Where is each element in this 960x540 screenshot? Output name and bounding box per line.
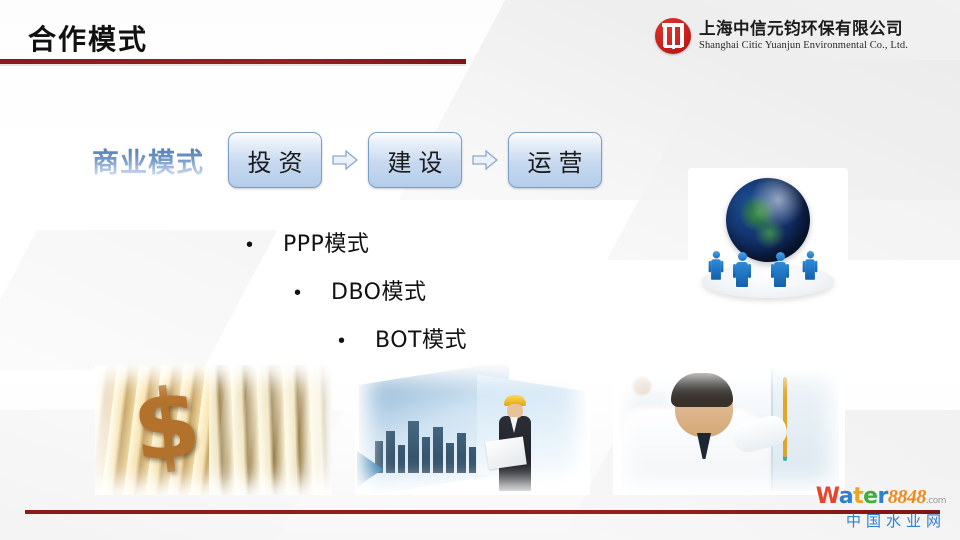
- watermark-tld: .com: [926, 496, 946, 506]
- bullet-list: • PPP模式 • DBO模式 • BOT模式: [246, 226, 467, 370]
- arrow-right-icon: [332, 149, 358, 171]
- page-title: 合作模式: [28, 18, 148, 58]
- title-underline-shadow: [0, 64, 466, 66]
- bullet-text: DBO模式: [331, 274, 426, 306]
- citic-logo-icon: [655, 18, 691, 54]
- flow-step-construction[interactable]: 建设: [368, 132, 462, 188]
- technician-operating-equipment-image: [613, 365, 845, 495]
- flow-label: 商业模式: [92, 141, 218, 180]
- decorative-shape-middle-left: [0, 230, 277, 370]
- slide-canvas: 合作模式 上海中信元钧环保有限公司 Shanghai Citic Yuanjun…: [0, 0, 960, 540]
- arrow-right-icon: [472, 149, 498, 171]
- earth-globe-icon: [726, 178, 810, 262]
- watermark-letter-a: a: [839, 484, 853, 509]
- company-logo: 上海中信元钧环保有限公司 Shanghai Citic Yuanjun Envi…: [655, 18, 908, 54]
- watermark-letter-t: t: [853, 484, 863, 509]
- engineer-figure-icon: [493, 395, 537, 491]
- person-figure-icon: [774, 252, 786, 286]
- company-name-en: Shanghai Citic Yuanjun Environmental Co.…: [699, 40, 908, 52]
- watermark-letter-e: e: [863, 484, 877, 509]
- construction-engineer-city-image: [355, 365, 590, 495]
- list-item: • BOT模式: [338, 322, 467, 354]
- watermark-subtitle: 中国水业网: [812, 514, 946, 529]
- bullet-marker-icon: •: [338, 331, 345, 351]
- list-item: • DBO模式: [294, 274, 467, 306]
- flow-step-operation[interactable]: 运营: [508, 132, 602, 188]
- dollar-sign-icon: $: [128, 374, 204, 476]
- person-figure-icon: [736, 252, 748, 286]
- footer-rule: [25, 510, 940, 514]
- company-name-block: 上海中信元钧环保有限公司 Shanghai Citic Yuanjun Envi…: [699, 20, 908, 52]
- city-skyline-icon: [373, 415, 493, 473]
- list-item: • PPP模式: [246, 226, 467, 258]
- watermark-brand: Water8848.com: [812, 486, 946, 508]
- person-figure-icon: [805, 251, 815, 279]
- globe-with-people-image: [688, 168, 848, 308]
- business-model-flow: 商业模式 投资 建设 运营: [92, 132, 602, 188]
- watermark-letter-w: W: [816, 484, 839, 509]
- dollar-bills-image: $: [95, 365, 332, 495]
- flow-step-investment[interactable]: 投资: [228, 132, 322, 188]
- bullet-marker-icon: •: [294, 283, 301, 303]
- company-name-cn: 上海中信元钧环保有限公司: [699, 20, 908, 38]
- bullet-marker-icon: •: [246, 235, 253, 255]
- watermark-number: 8848: [888, 486, 926, 508]
- person-figure-icon: [711, 251, 721, 279]
- bullet-text: PPP模式: [283, 226, 369, 258]
- bullet-text: BOT模式: [375, 322, 467, 354]
- watermark-letter-r: r: [878, 484, 888, 509]
- water8848-watermark: Water8848.com 中国水业网: [812, 486, 946, 529]
